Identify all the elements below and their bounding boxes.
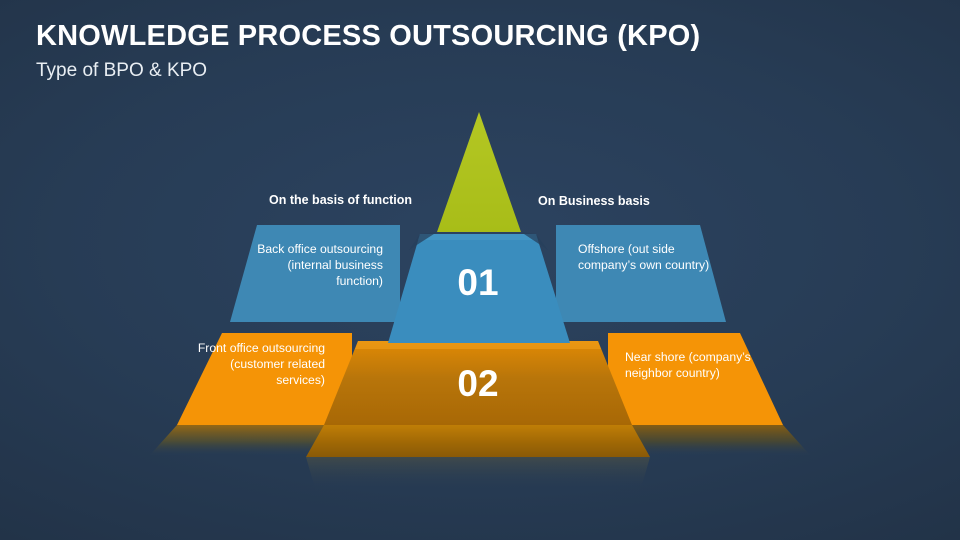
tier-02-right-label: Near shore (company’s neighbor country) bbox=[625, 349, 765, 381]
tier-01-left-label: Back office outsourcing (internal busine… bbox=[243, 241, 383, 289]
tier-01-number: 01 bbox=[418, 262, 538, 304]
tier-01-right-wing[interactable] bbox=[556, 225, 726, 322]
tier-02-left-label: Front office outsourcing (customer relat… bbox=[185, 340, 325, 388]
slide-canvas: KNOWLEDGE PROCESS OUTSOURCING (KPO) Type… bbox=[0, 0, 960, 540]
header-left: On the basis of function bbox=[269, 193, 412, 207]
tier-01-right-label: Offshore (out side company’s own country… bbox=[578, 241, 718, 273]
tier-02-number: 02 bbox=[418, 363, 538, 405]
pyramid-apex[interactable] bbox=[437, 112, 521, 232]
header-right: On Business basis bbox=[538, 194, 650, 208]
